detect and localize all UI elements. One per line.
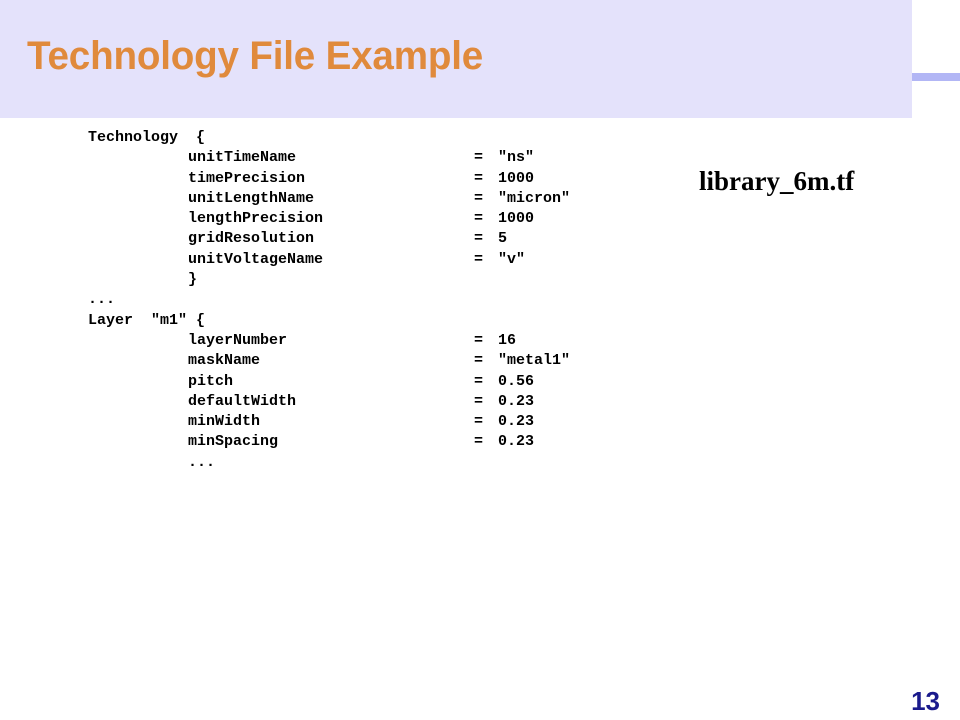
code-line: defaultWidth=0.23 — [88, 392, 708, 412]
code-value: 0.23 — [498, 412, 534, 432]
code-value: "ns" — [498, 148, 534, 168]
code-line: gridResolution=5 — [88, 229, 708, 249]
code-key: maskName — [188, 351, 474, 371]
code-key: pitch — [188, 372, 474, 392]
code-line: timePrecision=1000 — [88, 169, 708, 189]
code-assignment-operator: = — [474, 392, 498, 412]
code-line: unitVoltageName="v" — [88, 250, 708, 270]
code-assignment-operator: = — [474, 412, 498, 432]
code-assignment-operator: = — [474, 189, 498, 209]
code-line: unitTimeName="ns" — [88, 148, 708, 168]
code-key: ... — [188, 454, 215, 471]
page-title: Technology File Example — [27, 33, 857, 79]
code-key: Layer "m1" { — [88, 312, 205, 329]
code-assignment-operator: = — [474, 229, 498, 249]
code-value: "metal1" — [498, 351, 570, 371]
code-assignment-operator: = — [474, 250, 498, 270]
code-value: 1000 — [498, 209, 534, 229]
code-key: unitTimeName — [188, 148, 474, 168]
code-value: 1000 — [498, 169, 534, 189]
code-assignment-operator: = — [474, 148, 498, 168]
slide-canvas: Technology File Example Technology {unit… — [0, 0, 960, 720]
code-value: "micron" — [498, 189, 570, 209]
code-line: maskName="metal1" — [88, 351, 708, 371]
code-key: defaultWidth — [188, 392, 474, 412]
code-assignment-operator: = — [474, 169, 498, 189]
code-line: } — [88, 270, 708, 290]
code-value: 0.56 — [498, 372, 534, 392]
code-value: 16 — [498, 331, 516, 351]
code-key: timePrecision — [188, 169, 474, 189]
slide-page-number: 13 — [860, 686, 940, 716]
code-line: pitch=0.56 — [88, 372, 708, 392]
code-line: minWidth=0.23 — [88, 412, 708, 432]
code-key: ... — [88, 291, 115, 308]
code-assignment-operator: = — [474, 331, 498, 351]
code-line: ... — [88, 290, 708, 310]
technology-file-code-listing: Technology {unitTimeName="ns"timePrecisi… — [88, 128, 708, 473]
code-line: lengthPrecision=1000 — [88, 209, 708, 229]
code-key: minWidth — [188, 412, 474, 432]
code-value: 5 — [498, 229, 507, 249]
code-key: unitLengthName — [188, 189, 474, 209]
code-value: "v" — [498, 250, 525, 270]
code-line: Layer "m1" { — [88, 311, 708, 331]
code-line: minSpacing=0.23 — [88, 432, 708, 452]
code-line: ... — [88, 453, 708, 473]
code-value: 0.23 — [498, 432, 534, 452]
code-key: lengthPrecision — [188, 209, 474, 229]
code-key: minSpacing — [188, 432, 474, 452]
header-accent-bar — [912, 73, 960, 81]
code-key: gridResolution — [188, 229, 474, 249]
code-assignment-operator: = — [474, 372, 498, 392]
code-assignment-operator: = — [474, 351, 498, 371]
code-key: layerNumber — [188, 331, 474, 351]
filename-callout: library_6m.tf — [699, 166, 854, 196]
code-key: unitVoltageName — [188, 250, 474, 270]
code-key: Technology { — [88, 129, 205, 146]
code-value: 0.23 — [498, 392, 534, 412]
code-assignment-operator: = — [474, 432, 498, 452]
code-assignment-operator: = — [474, 209, 498, 229]
code-line: unitLengthName="micron" — [88, 189, 708, 209]
code-line: Technology { — [88, 128, 708, 148]
code-line: layerNumber=16 — [88, 331, 708, 351]
code-key: } — [188, 271, 197, 288]
